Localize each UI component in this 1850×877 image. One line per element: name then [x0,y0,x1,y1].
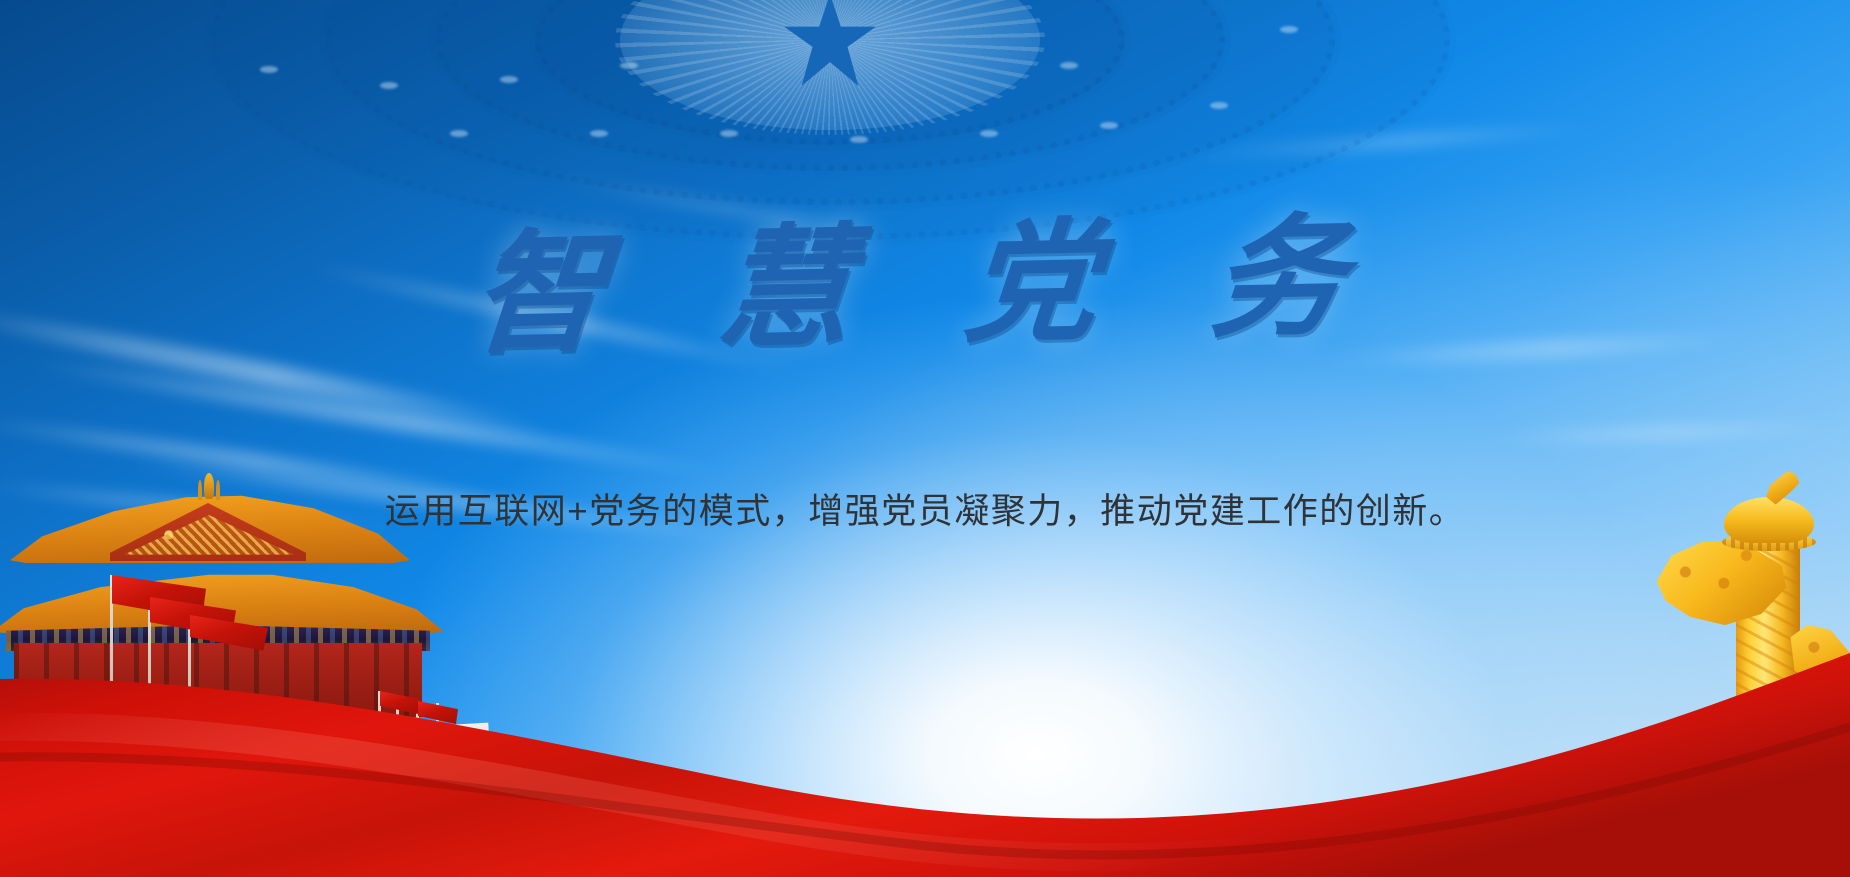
red-silk-ribbon-icon [0,617,1850,877]
gate-roof-finial [204,473,214,499]
hero-banner: 智 慧 党 务 运用互联网+党务的模式，增强党员凝聚力，推动党建工作的创新。 中… [0,0,1850,877]
pillar-cap [1724,497,1814,543]
